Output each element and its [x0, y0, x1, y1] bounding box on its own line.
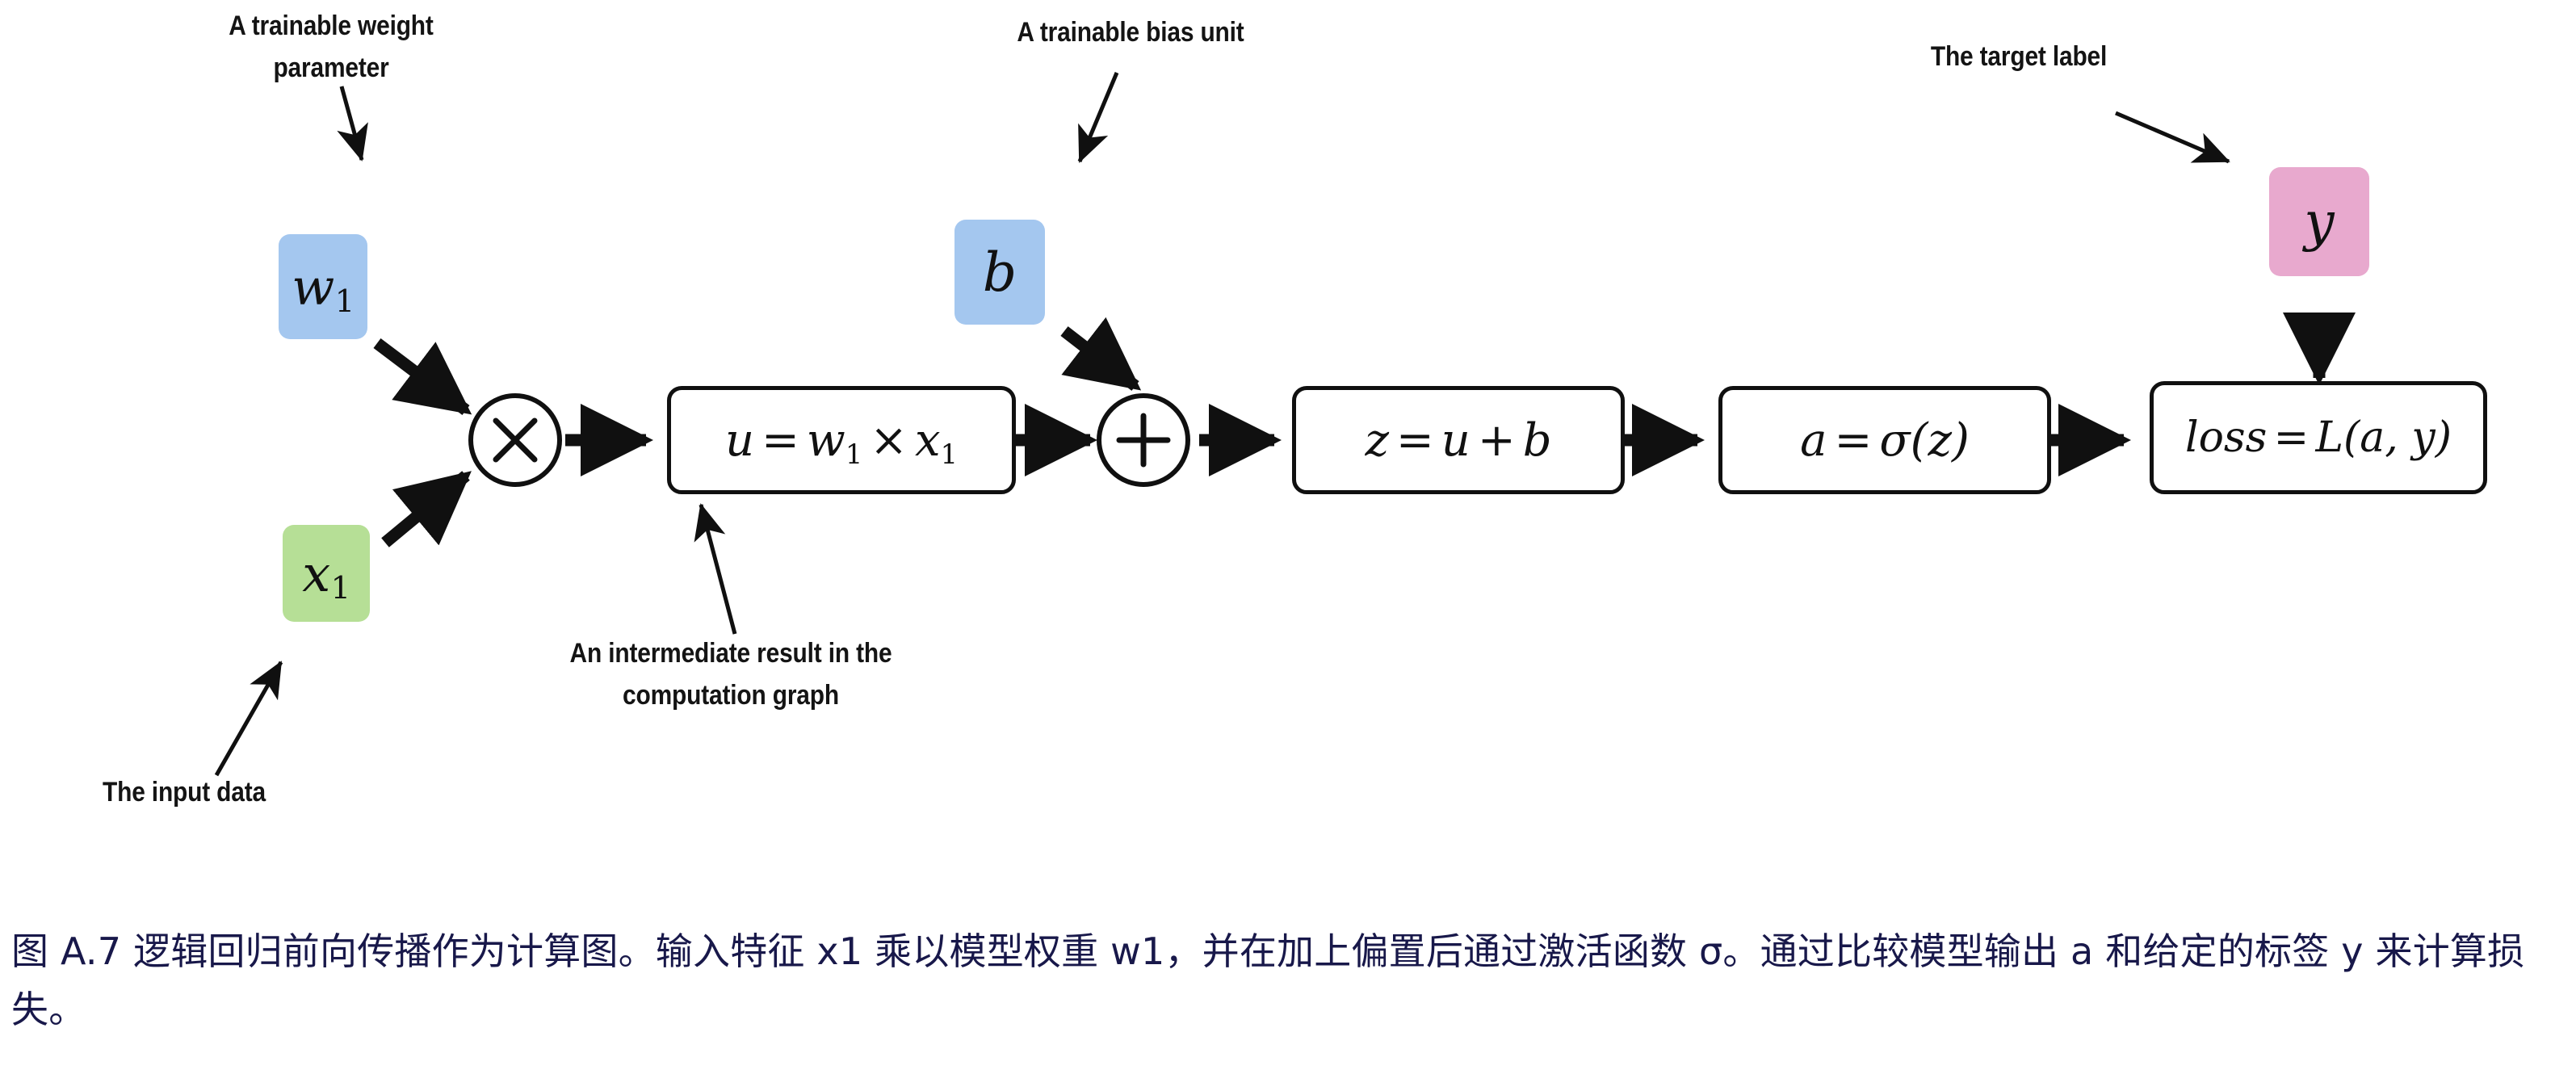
node-b-symbol: b — [983, 241, 1017, 304]
node-x1[interactable]: x1 — [283, 525, 370, 622]
plus-icon — [1101, 398, 1185, 482]
arrow-weight-annotation — [342, 86, 362, 160]
annotation-bias: A trainable bias unit — [953, 11, 1308, 53]
annotation-intermediate: An intermediate result in the computatio… — [485, 632, 975, 716]
annotation-input: The input data — [78, 771, 291, 813]
figure-caption: 图 A.7 逻辑回归前向传播作为计算图。输入特征 x1 乘以模型权重 w1，并在… — [11, 922, 2563, 1038]
operator-add[interactable] — [1097, 393, 1190, 487]
arrow-layer — [0, 0, 2576, 1074]
equation-box-a[interactable]: a=σ(z) — [1718, 386, 2051, 494]
arrow-target-annotation — [2116, 113, 2229, 162]
equation-a-text: a=σ(z) — [1800, 414, 1970, 467]
equation-box-z[interactable]: z=u+b — [1292, 386, 1625, 494]
node-w1[interactable]: w1 — [279, 234, 367, 339]
arrow-bias-annotation — [1080, 73, 1117, 162]
arrow-x1-to-multiply — [385, 476, 466, 543]
equation-z-text: z=u+b — [1365, 414, 1551, 467]
equation-box-u[interactable]: u=w1×x1 — [667, 386, 1016, 494]
equation-u-text: u=w1×x1 — [725, 414, 958, 467]
operator-multiply[interactable] — [468, 393, 562, 487]
arrow-w1-to-multiply — [377, 343, 466, 410]
multiply-icon — [473, 398, 557, 482]
arrow-b-to-add — [1064, 331, 1135, 386]
equation-box-loss[interactable]: loss=L(a, y) — [2150, 381, 2487, 494]
node-b[interactable]: b — [954, 220, 1045, 325]
node-y-symbol: y — [2304, 191, 2334, 253]
arrow-input-annotation — [216, 662, 281, 775]
node-w1-symbol: w1 — [292, 258, 355, 317]
node-x1-symbol: x1 — [302, 544, 350, 603]
equation-loss-text: loss=L(a, y) — [2185, 413, 2452, 462]
node-y[interactable]: y — [2269, 167, 2369, 276]
annotation-target: The target label — [1869, 36, 2168, 78]
figure-canvas: A trainable weight parameter A trainable… — [0, 0, 2576, 1074]
annotation-weight: A trainable weight parameter — [178, 5, 484, 89]
arrow-intermediate-annotation — [701, 505, 735, 634]
